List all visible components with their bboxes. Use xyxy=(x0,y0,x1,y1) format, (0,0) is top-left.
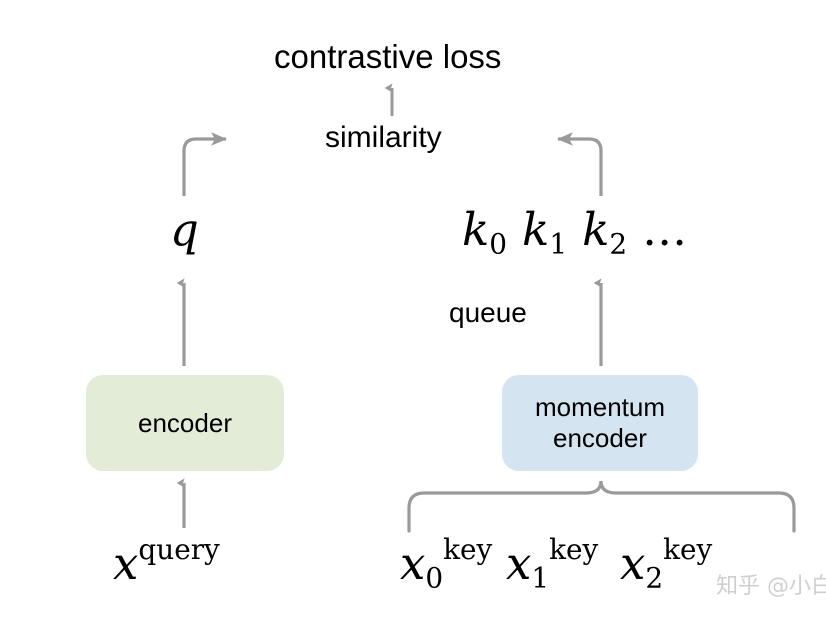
key-symbol-1: k1 xyxy=(522,203,567,256)
x-query-superscript: query xyxy=(138,533,219,566)
x-key-sample-2: x2key xyxy=(620,541,712,586)
arrow-keys-to-similarity xyxy=(558,139,601,196)
key-symbol-0: k0 xyxy=(462,203,507,256)
similarity-label: similarity xyxy=(325,123,442,153)
arrow-query-to-similarity xyxy=(184,139,226,196)
encoder-box-label: encoder xyxy=(138,408,232,439)
x-query-symbol: xquery xyxy=(113,541,220,586)
key-symbol-2: k2 xyxy=(582,203,627,256)
watermark: 知乎 @小白 xyxy=(716,568,826,600)
queue-label: queue xyxy=(449,299,527,327)
keys-ellipsis: … xyxy=(642,203,687,256)
momentum-encoder-box-label-line2: encoder xyxy=(535,423,665,454)
x-key-sample-0: x0key xyxy=(400,541,492,586)
momentum-encoder-box-label-line1: momentum xyxy=(535,392,665,423)
brace-key-samples xyxy=(409,481,794,531)
key-symbols-row: k0k1k2… xyxy=(462,207,687,252)
query-symbol: q xyxy=(170,207,199,252)
encoder-box[interactable]: encoder xyxy=(86,375,284,471)
moco-architecture-diagram: contrastive loss similarity queue q k0k1… xyxy=(0,0,826,634)
contrastive-loss-label: contrastive loss xyxy=(274,40,501,73)
x-key-sample-1: x1key xyxy=(506,541,598,586)
momentum-encoder-box[interactable]: momentum encoder xyxy=(502,375,698,471)
